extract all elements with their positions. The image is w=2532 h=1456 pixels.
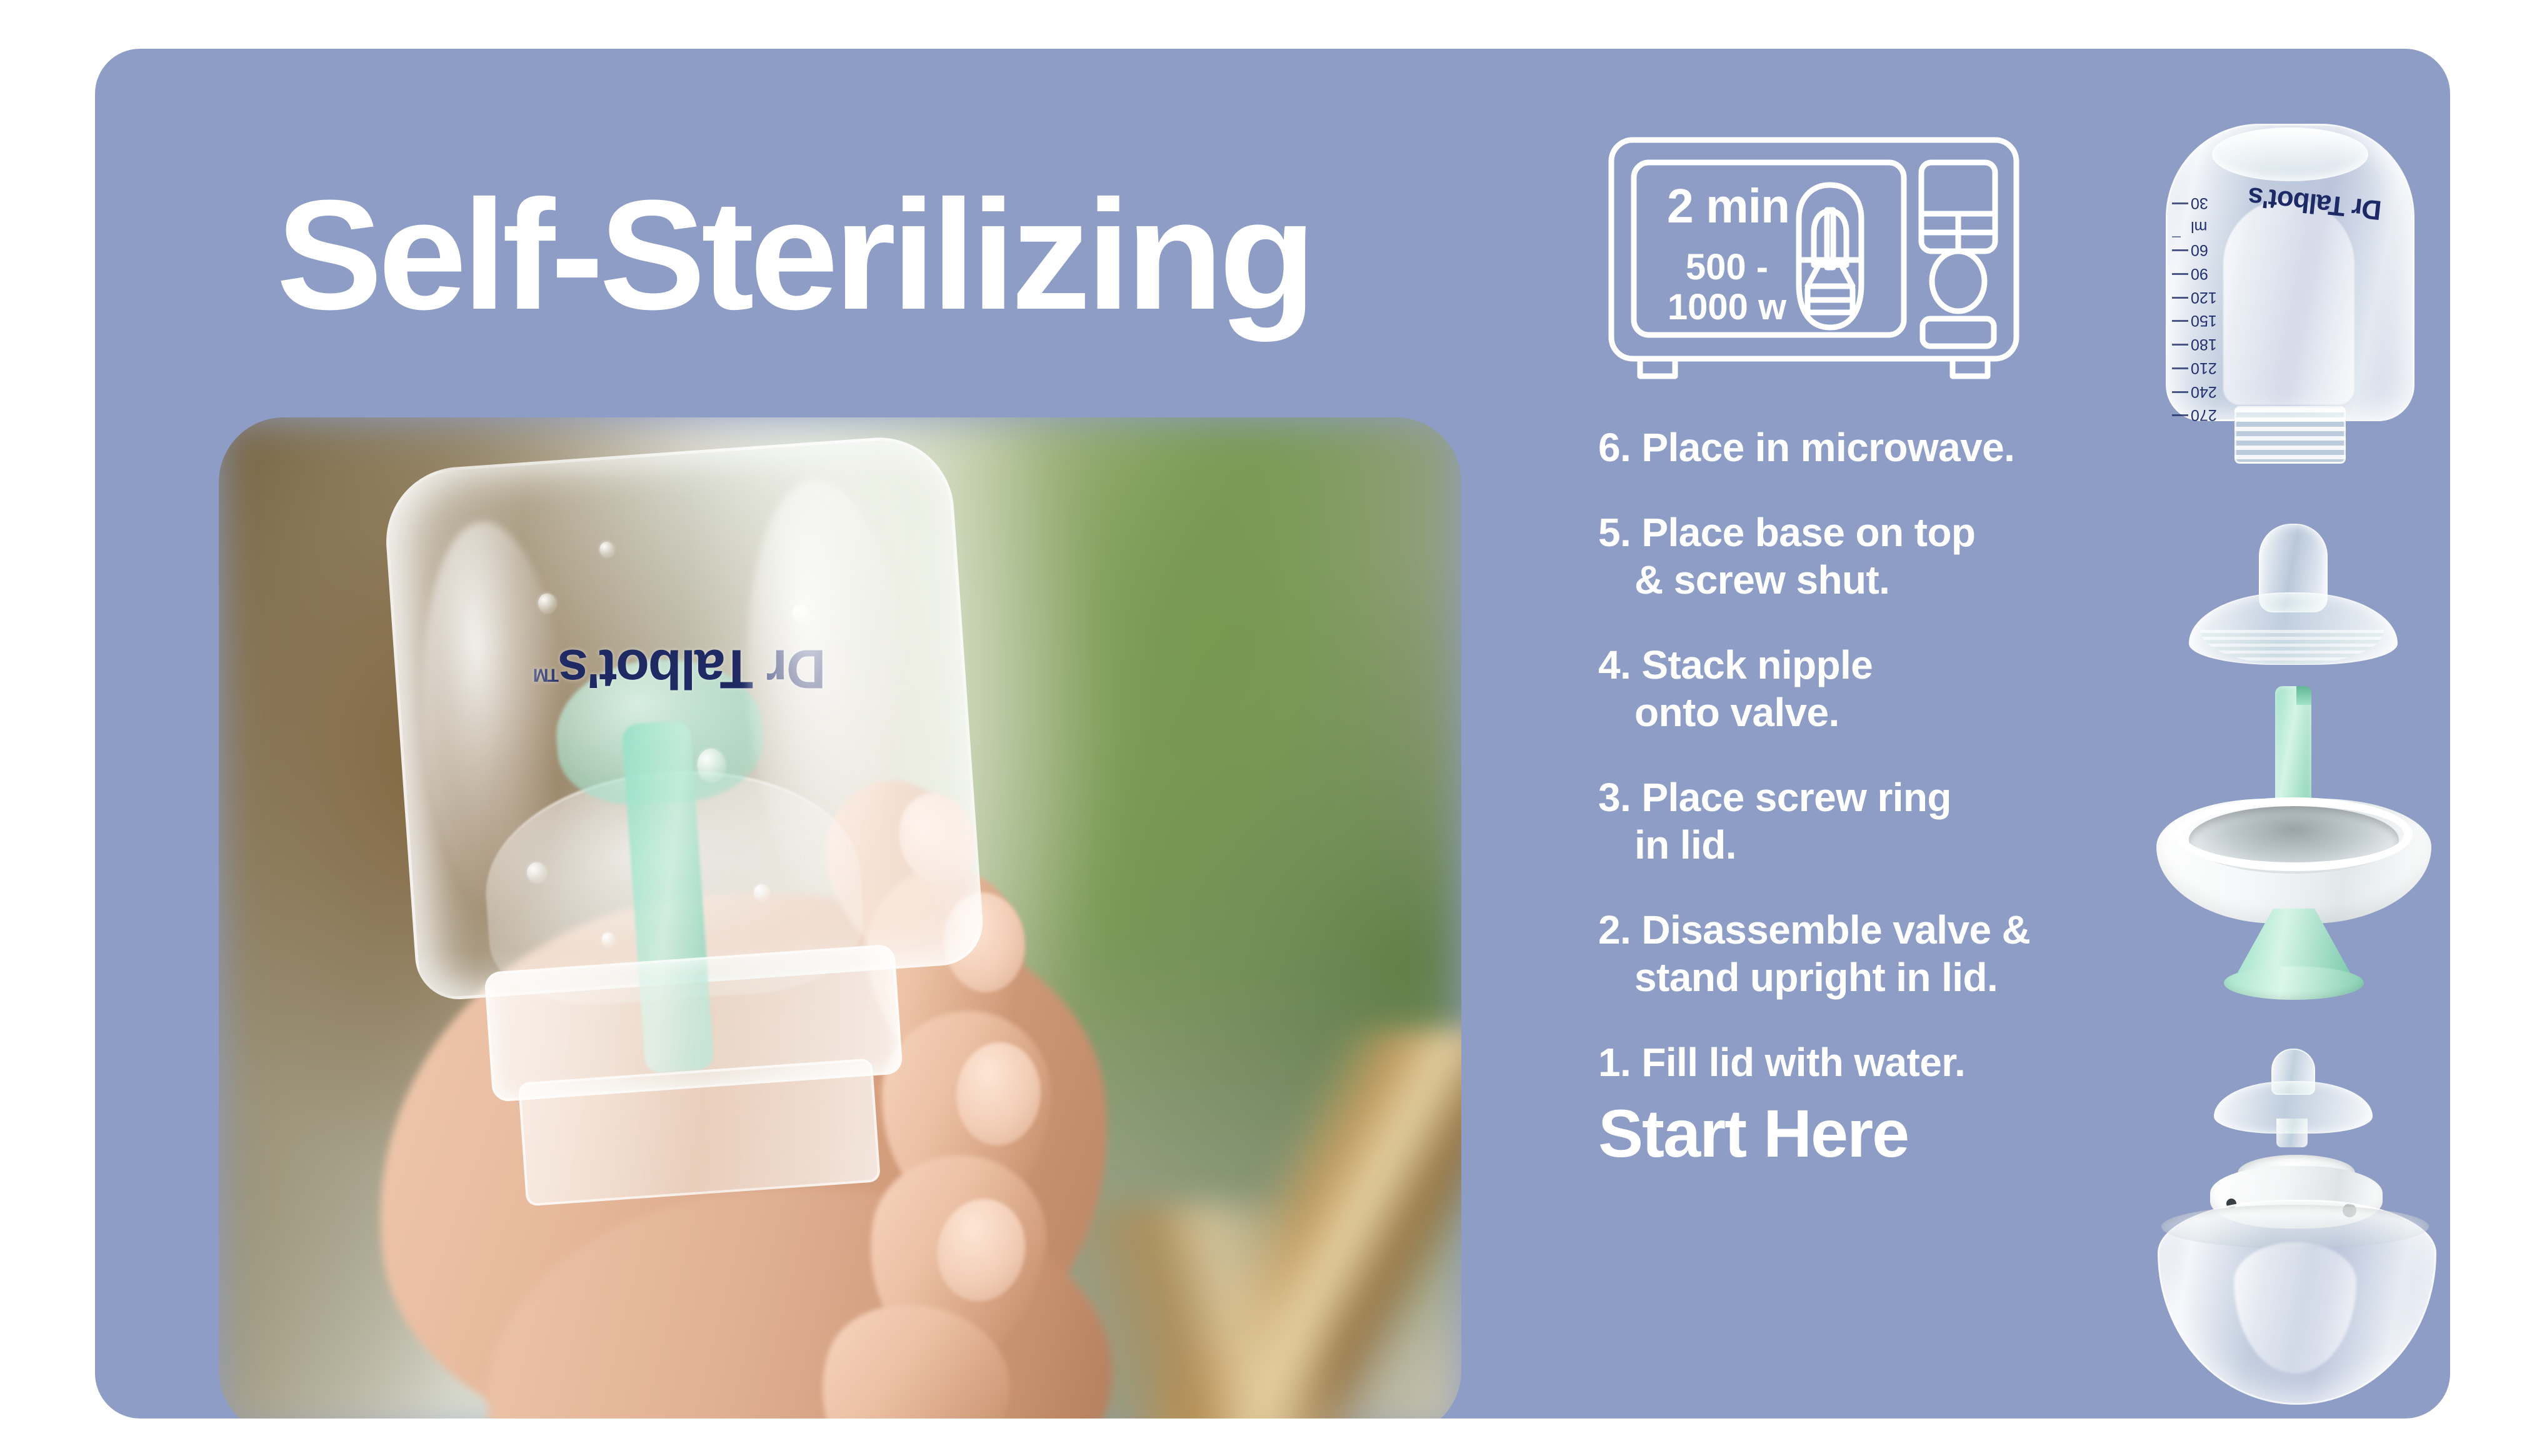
scale-tick: 60 [2172,239,2247,263]
scale-label: 210 [2191,359,2217,377]
nipple-part [2189,524,2395,674]
scale-tick: 30 [2172,192,2247,216]
microwave-time-label: 2 min [1650,181,1806,231]
bottle-base-dish [2212,127,2368,181]
step-3-line2: in lid. [1634,821,2111,869]
step-2-line2: stand upright in lid. [1634,954,2111,1001]
scale-label: 150 [2191,311,2217,330]
step-3: 3. Place screw ring in lid. [1598,774,2111,869]
lid-screw-ring-valve-part [2156,686,2431,999]
instruction-steps-list: 6. Place in microwave. 5. Place base on … [1598,424,2111,1169]
microwave-power-label: 500 -1000 w [1645,247,1809,327]
step-2-line1: 2. Disassemble valve & [1598,906,2111,954]
scale-tick: 90 [2172,263,2247,287]
valve-stem-notch [2296,686,2311,705]
step-5: 5. Place base on top & screw shut. [1598,509,2111,604]
screw-ring [2175,797,2413,871]
valve-foot [2224,966,2364,1000]
scale-label: 30 [2191,194,2208,212]
scale-label: 120 [2191,288,2217,307]
scale-label: 60 [2191,241,2208,259]
valve-cap-post [2276,1119,2308,1147]
start-here-label: Start Here [1598,1099,2111,1169]
scale-unit: ml [2191,217,2207,236]
hands-holding-inverted-bottle-photo: Dr Talbot'sTM [219,417,1461,1419]
microwave-icon: 2 min 500 -1000 w [1608,136,2020,386]
scale-tick: 180 [2172,334,2247,357]
step-5-line1: 5. Place base on top [1598,509,2111,556]
step-4-line1: 4. Stack nipple [1598,641,2111,689]
scale-tick: ml [2172,216,2247,240]
step-5-line2: & screw shut. [1634,556,2111,604]
bottle-collar [518,1058,881,1206]
bottle-threaded-neck [2234,406,2346,464]
scale-tick: 120 [2172,287,2247,311]
scale-label: 180 [2191,335,2217,354]
base-cap-part [2158,1155,2433,1405]
step-4: 4. Stack nipple onto valve. [1598,641,2111,736]
step-6: 6. Place in microwave. [1598,424,2111,471]
scale-tick: 240 [2172,381,2247,405]
step-4-line2: onto valve. [1634,689,2111,736]
inverted-bottle-part: Dr Talbot's 30 ml 60 90 120 150 180 210 … [2154,124,2423,499]
scale-label: 240 [2191,382,2217,401]
inverted-bottle-in-photo: Dr Talbot'sTM [381,433,994,1208]
infographic-card: Self-Sterilizing Dr Talbot'sTM [95,49,2450,1419]
scale-tick: 150 [2172,310,2247,334]
microwave-power-line1: 500 - [1686,247,1768,287]
valve-cap-part [2214,1049,2370,1149]
step-1: 1. Fill lid with water. [1598,1039,2111,1086]
microwave-power-line2: 1000 w [1668,287,1786,327]
step-3-line1: 3. Place screw ring [1598,774,2111,821]
exploded-product-diagram: Dr Talbot's 30 ml 60 90 120 150 180 210 … [2120,124,2450,1419]
page-title: Self-Sterilizing [276,177,1312,333]
scale-tick: 210 [2172,357,2247,381]
scale-label: 270 [2191,406,2217,424]
step-6-line1: 6. Place in microwave. [1598,424,2111,471]
scale-label: 90 [2191,264,2208,283]
step-2: 2. Disassemble valve & stand upright in … [1598,906,2111,1001]
bottle-measurement-scale: 30 ml 60 90 120 150 180 210 240 270 [2172,192,2247,405]
step-1-line1: 1. Fill lid with water. [1598,1039,2111,1086]
